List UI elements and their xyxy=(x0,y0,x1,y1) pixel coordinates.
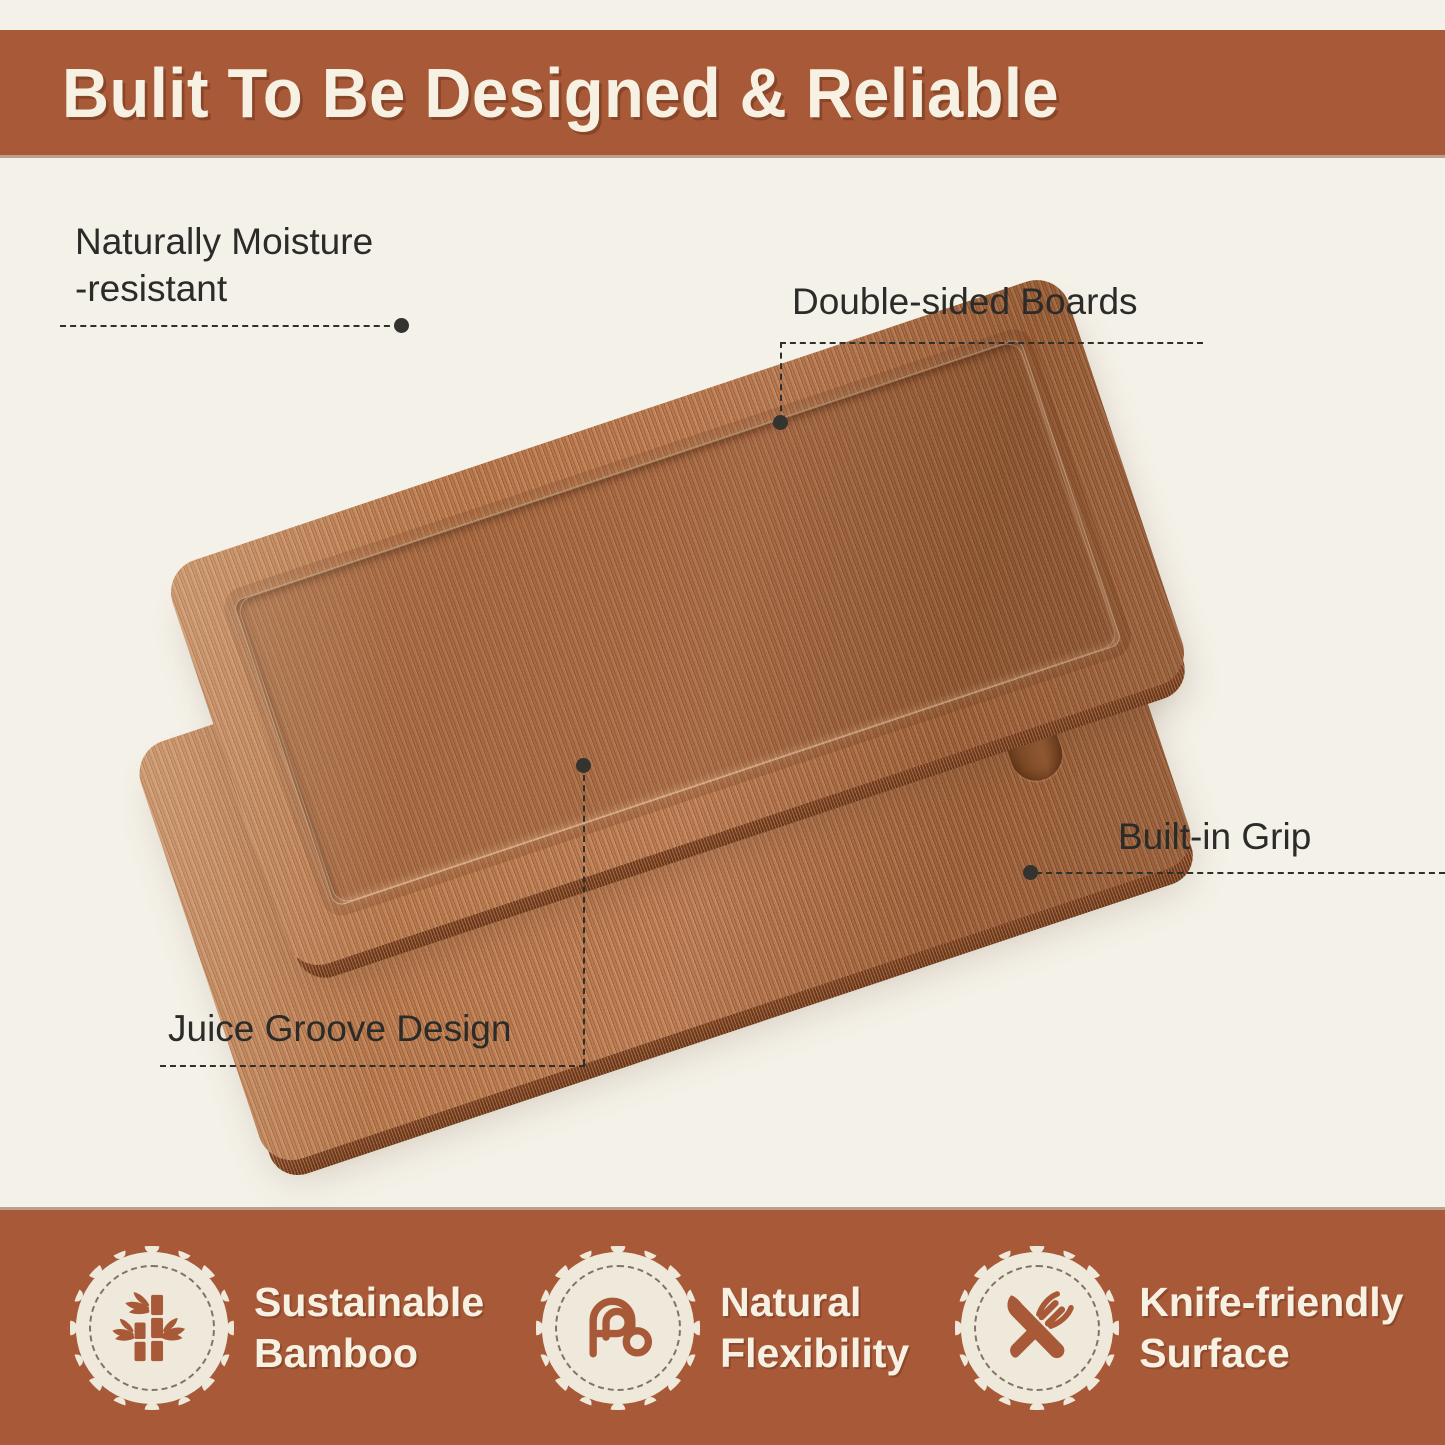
flexibility-icon xyxy=(572,1282,664,1374)
callout-label-built-in-grip: Built-in Grip xyxy=(1118,813,1311,860)
callout-line-juice-groove-v xyxy=(583,765,585,1065)
callout-dot-double-sided-boards xyxy=(773,415,788,430)
product-image: Naturally Moisture -resistant Double-sid… xyxy=(0,155,1445,1210)
top-banner: Bulit To Be Designed & Reliable xyxy=(0,30,1445,155)
badge-circle-sustainable-bamboo xyxy=(76,1252,228,1404)
callout-dot-juice-groove-design xyxy=(576,758,591,773)
badge-label-sustainable-bamboo: Sustainable Bamboo xyxy=(254,1277,484,1377)
feature-badge-row: Sustainable Bamboo Natural Flexibility xyxy=(0,1210,1445,1445)
callout-line-double-sided-boards-h xyxy=(780,342,1203,344)
badge-label-knife-friendly-surface: Knife-friendly Surface xyxy=(1139,1277,1403,1377)
badge-circle-knife-friendly-surface xyxy=(961,1252,1113,1404)
callout-line-double-sided-boards-v xyxy=(780,342,782,422)
bamboo-icon xyxy=(106,1282,198,1374)
callout-dot-built-in-grip xyxy=(1023,865,1038,880)
callout-line-naturally-moisture-resistant xyxy=(60,325,400,327)
callout-label-double-sided-boards: Double-sided Boards xyxy=(792,278,1138,325)
badge-circle-natural-flexibility xyxy=(542,1252,694,1404)
callout-line-juice-groove-h xyxy=(160,1065,585,1067)
feature-badge-natural-flexibility: Natural Flexibility xyxy=(542,1252,909,1404)
feature-badge-knife-friendly-surface: Knife-friendly Surface xyxy=(961,1252,1403,1404)
callout-label-juice-groove-design: Juice Groove Design xyxy=(168,1005,511,1052)
feature-badge-sustainable-bamboo: Sustainable Bamboo xyxy=(76,1252,484,1404)
badge-label-natural-flexibility: Natural Flexibility xyxy=(720,1277,909,1377)
infographic-stage: Bulit To Be Designed & Reliable Naturall… xyxy=(0,0,1445,1445)
knife-fork-icon xyxy=(991,1282,1083,1374)
page-title: Bulit To Be Designed & Reliable xyxy=(62,53,1059,133)
callout-label-naturally-moisture-resistant: Naturally Moisture -resistant xyxy=(75,218,373,313)
callout-dot-naturally-moisture-resistant xyxy=(394,318,409,333)
callout-line-built-in-grip xyxy=(1036,872,1445,874)
